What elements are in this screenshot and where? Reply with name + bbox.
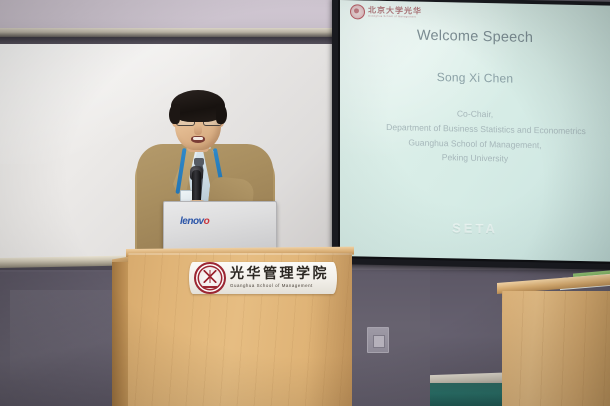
mouth bbox=[191, 136, 205, 143]
wall-outlet-plate bbox=[367, 327, 389, 353]
nose bbox=[194, 125, 202, 135]
plaque-chinese-name: 光华管理学院 bbox=[230, 267, 329, 281]
slide-title: Welcome Speech bbox=[340, 26, 610, 48]
necktie-knot bbox=[194, 158, 204, 166]
wall-shadow bbox=[0, 37, 340, 44]
slide-affiliation: Co-Chair, Department of Business Statist… bbox=[340, 104, 610, 169]
slide-watermark: SETA bbox=[340, 218, 610, 239]
slide-logo: 北京大学光华 Guanghua School of Management bbox=[350, 4, 422, 21]
laptop: lenovo bbox=[163, 201, 277, 253]
laptop-brand-prefix: lenov bbox=[180, 216, 204, 227]
hair-side-left bbox=[169, 104, 180, 124]
plaque-text-group: 光华管理学院 Guanghua School of Management bbox=[230, 267, 329, 288]
slide-speaker-name: Song Xi Chen bbox=[340, 68, 610, 88]
table-wood-grain bbox=[502, 291, 610, 406]
side-table-front bbox=[502, 291, 610, 406]
wall-rail bbox=[0, 28, 340, 37]
peking-university-seal-icon bbox=[194, 262, 226, 294]
slide-content: Welcome Speech Song Xi Chen Co-Chair, De… bbox=[340, 26, 610, 169]
conference-photo: 北京大学光华 Guanghua School of Management Wel… bbox=[0, 0, 610, 406]
plaque-english-name: Guanghua School of Management bbox=[230, 284, 329, 288]
upper-wall bbox=[0, 0, 340, 30]
laptop-brand-logo: lenovo bbox=[180, 216, 209, 227]
peking-university-seal-icon bbox=[350, 4, 365, 19]
projection-screen: 北京大学光华 Guanghua School of Management Wel… bbox=[340, 0, 610, 262]
slide-logo-english: Guanghua School of Management bbox=[368, 16, 422, 20]
laptop-brand-suffix: o bbox=[204, 216, 210, 227]
podium-plaque: 光华管理学院 Guanghua School of Management bbox=[189, 262, 337, 294]
hair-side-right bbox=[216, 104, 227, 124]
